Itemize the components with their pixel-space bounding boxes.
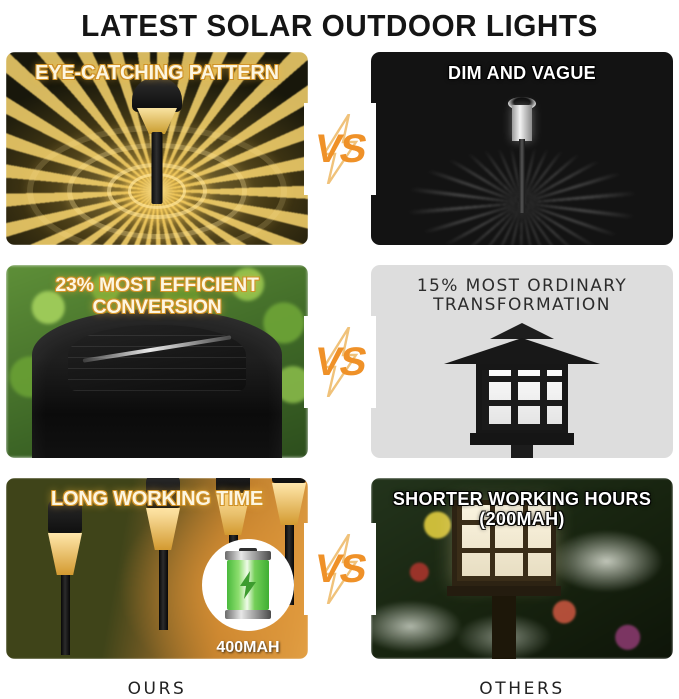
theirs-heading-working-hours: SHORTER WORKING HOURS (200MAH): [371, 489, 673, 529]
lamp-head: [272, 478, 306, 483]
footer-spacer: [308, 679, 371, 699]
solar-path-light-theirs-icon: [507, 97, 537, 212]
vs-badge: VS: [308, 327, 372, 397]
battery-capacity-badge: [202, 539, 294, 631]
lantern-post: [492, 596, 516, 659]
vs-separator-row2: VS: [304, 316, 376, 408]
lantern-glass-panes: [476, 364, 568, 436]
vs-label: VS: [304, 342, 375, 382]
vs-separator-row1: VS: [304, 103, 376, 195]
comparison-row-pattern: EYE-CATCHING PATTERN VS DIM AND VAGUE: [0, 52, 679, 245]
solar-path-light-ours-icon: [130, 78, 184, 203]
ours-heading-conversion: 23% MOST EFFICIENT CONVERSION: [6, 275, 308, 319]
theirs-heading-line1: SHORTER WORKING HOURS: [393, 489, 651, 509]
comparison-grid: EYE-CATCHING PATTERN VS DIM AND VAGUE: [0, 52, 679, 659]
comparison-row-conversion: 23% MOST EFFICIENT CONVERSION VS 15% MOS…: [0, 265, 679, 458]
ours-heading-working-time: LONG WORKING TIME: [6, 488, 308, 510]
theirs-panel-transformation[interactable]: 15% MOST ORDINARY TRANSFORMATION: [371, 265, 673, 458]
lamp-stem: [519, 139, 525, 213]
ours-panel-conversion[interactable]: 23% MOST EFFICIENT CONVERSION: [6, 265, 308, 458]
comparison-row-working-time: 400MAH LONG WORKING TIME VS SHORTER WORK…: [0, 478, 679, 659]
vs-badge: VS: [308, 114, 372, 184]
lantern-base: [470, 433, 574, 445]
vs-badge: VS: [308, 534, 372, 604]
ours-panel-working-time[interactable]: 400MAH LONG WORKING TIME: [6, 478, 308, 659]
label-others: OTHERS: [371, 679, 673, 699]
vs-label: VS: [304, 129, 375, 169]
theirs-heading-line1: 15% MOST ORDINARY: [417, 276, 627, 296]
theirs-heading-transformation: 15% MOST ORDINARY TRANSFORMATION: [371, 277, 673, 315]
solar-cell-grid: [68, 325, 246, 391]
pagoda-lantern-icon: [442, 323, 602, 458]
lantern-roof-lower: [444, 338, 600, 364]
lamp-pole: [159, 550, 168, 630]
ours-battery-capacity-label: 400MAH: [202, 639, 294, 657]
solar-cell-highlight: [83, 335, 232, 362]
battery-cap-bottom: [225, 610, 271, 619]
theirs-heading-line2: TRANSFORMATION: [371, 296, 673, 315]
ours-panel-pattern[interactable]: EYE-CATCHING PATTERN: [6, 52, 308, 245]
solar-light-near: [48, 499, 82, 659]
lantern-base: [447, 586, 561, 596]
battery-cap-top: [225, 551, 271, 560]
page-title: LATEST SOLAR OUTDOOR LIGHTS: [14, 0, 666, 52]
lamp-glow: [48, 533, 82, 575]
lamp-pole: [61, 575, 70, 655]
column-labels: OURS OTHERS: [0, 679, 679, 699]
battery-icon: [224, 551, 272, 619]
lamp-glow: [146, 508, 180, 550]
lamp-stem: [152, 132, 163, 204]
lamp-diffuser: [137, 108, 177, 134]
theirs-heading-line2: (200MAH): [371, 509, 673, 529]
lamp-body: [512, 105, 532, 141]
lantern-roof-top: [490, 323, 554, 339]
vs-separator-row3: VS: [304, 523, 376, 615]
label-ours: OURS: [6, 679, 308, 699]
theirs-heading-dim: DIM AND VAGUE: [371, 63, 673, 83]
solar-panel-top-icon: [32, 309, 282, 458]
ours-heading-pattern: EYE-CATCHING PATTERN: [6, 62, 308, 84]
theirs-panel-working-hours[interactable]: SHORTER WORKING HOURS (200MAH): [371, 478, 673, 659]
battery-lightning-icon: [238, 571, 258, 599]
lantern-post: [511, 445, 533, 458]
theirs-panel-dim[interactable]: DIM AND VAGUE: [371, 52, 673, 245]
vs-label: VS: [304, 549, 375, 589]
